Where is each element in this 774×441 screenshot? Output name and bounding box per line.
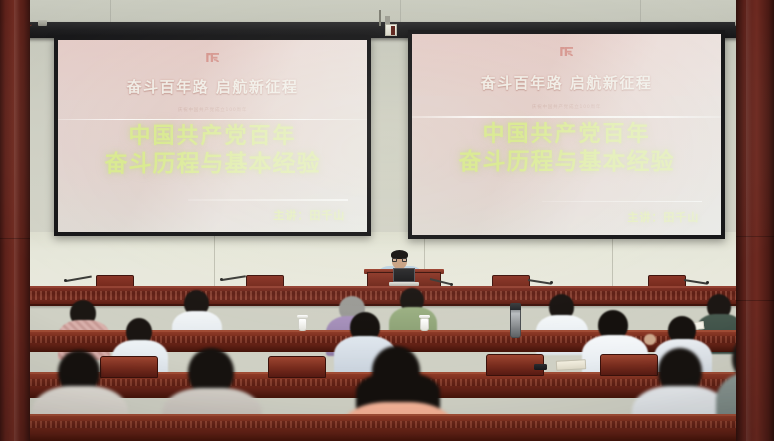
audience-seatback [100,356,158,378]
microphone-head-icon [220,278,223,281]
wall-seam [612,234,613,286]
slide-left: 奋斗百年路 启航新征程 庆祝中国共产党成立100周年 中国共产党百年 奋斗历程与… [58,40,367,232]
wall-column-left [0,0,30,441]
notebook [556,359,586,371]
stage-shadow [30,304,736,309]
microphone-head-icon [64,279,67,282]
glasses-icon [392,258,407,262]
audience-seatback [268,356,326,378]
slide-main-title: 中国共产党百年 奋斗历程与基本经验 [418,122,715,174]
slide-header-title: 奋斗百年路 启航新征程 [412,72,721,93]
slide-right: 奋斗百年路 启航新征程 庆祝中国共产党成立100周年 中国共产党百年 奋斗历程与… [412,34,721,235]
desk-carving [0,421,774,428]
slide-title-line-1: 中国共产党百年 [418,122,715,147]
slide-title-line-2: 奋斗历程与基本经验 [418,149,715,175]
wall-outlet [385,24,397,36]
slide-divider-bottom [188,199,349,201]
projection-screen-right: 奋斗百年路 启航新征程 庆祝中国共产党成立100周年 中国共产党百年 奋斗历程与… [408,30,725,239]
teacup-lid [297,315,308,318]
teacup-lid [419,315,430,318]
slide-main-title: 中国共产党百年 奋斗历程与基本经验 [64,124,361,176]
lecture-hall-photo: 奋斗百年路 启航新征程 庆祝中国共产党成立100周年 中国共产党百年 奋斗历程与… [0,0,774,441]
teacup [298,318,307,331]
audience-seatback [600,354,658,376]
wall-column-right [736,0,774,441]
thermos-bottle [510,306,521,338]
wall-seam [214,234,215,286]
slide-presenter: 主讲：田千山 [627,209,699,225]
laptop-screen [393,268,415,282]
slide-header-subtitle: 庆祝中国共产党成立100周年 [412,104,721,110]
slide-header-subtitle: 庆祝中国共产党成立100周年 [58,107,367,113]
slide-title-line-2: 奋斗历程与基本经验 [64,151,361,177]
balustrade-carving [30,291,736,300]
wall-cable [379,10,381,26]
teacup [420,318,429,331]
slide-divider-top [58,119,367,121]
thermos-cap [510,303,521,310]
microphone-head-icon [706,281,709,284]
slide-divider-bottom [542,201,703,203]
slide-title-line-1: 中国共产党百年 [64,124,361,149]
slide-divider-top [412,116,721,118]
microphone-head-icon [550,281,553,284]
slide-presenter: 主讲：田千山 [273,207,345,223]
projection-screen-left: 奋斗百年路 启航新征程 庆祝中国共产党成立100周年 中国共产党百年 奋斗历程与… [54,36,371,236]
cpc-party-emblem-icon [558,44,576,59]
slide-header-title: 奋斗百年路 启航新征程 [58,76,367,97]
cpc-party-emblem-icon [204,50,222,65]
smartphone [534,364,547,370]
beam-end-cap [38,20,47,26]
